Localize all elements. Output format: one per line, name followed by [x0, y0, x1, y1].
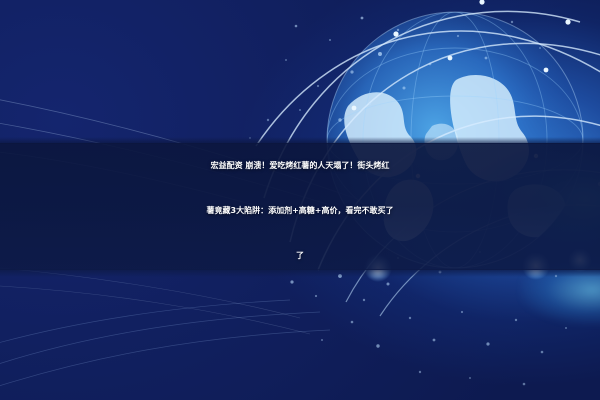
headline-line-3: 了	[4, 233, 596, 278]
banner-image: 宏益配资 崩溃！爱吃烤红薯的人天塌了！街头烤红 薯竟藏3大陷阱：添加剂+高糖+高…	[0, 0, 600, 400]
headline-line-2: 薯竟藏3大陷阱：添加剂+高糖+高价，看完不敢买了	[4, 188, 596, 233]
page-title: 宏益配资 崩溃！爱吃烤红薯的人天塌了！街头烤红 薯竟藏3大陷阱：添加剂+高糖+高…	[0, 143, 600, 278]
headline-line-1: 宏益配资 崩溃！爱吃烤红薯的人天塌了！街头烤红	[4, 143, 596, 188]
